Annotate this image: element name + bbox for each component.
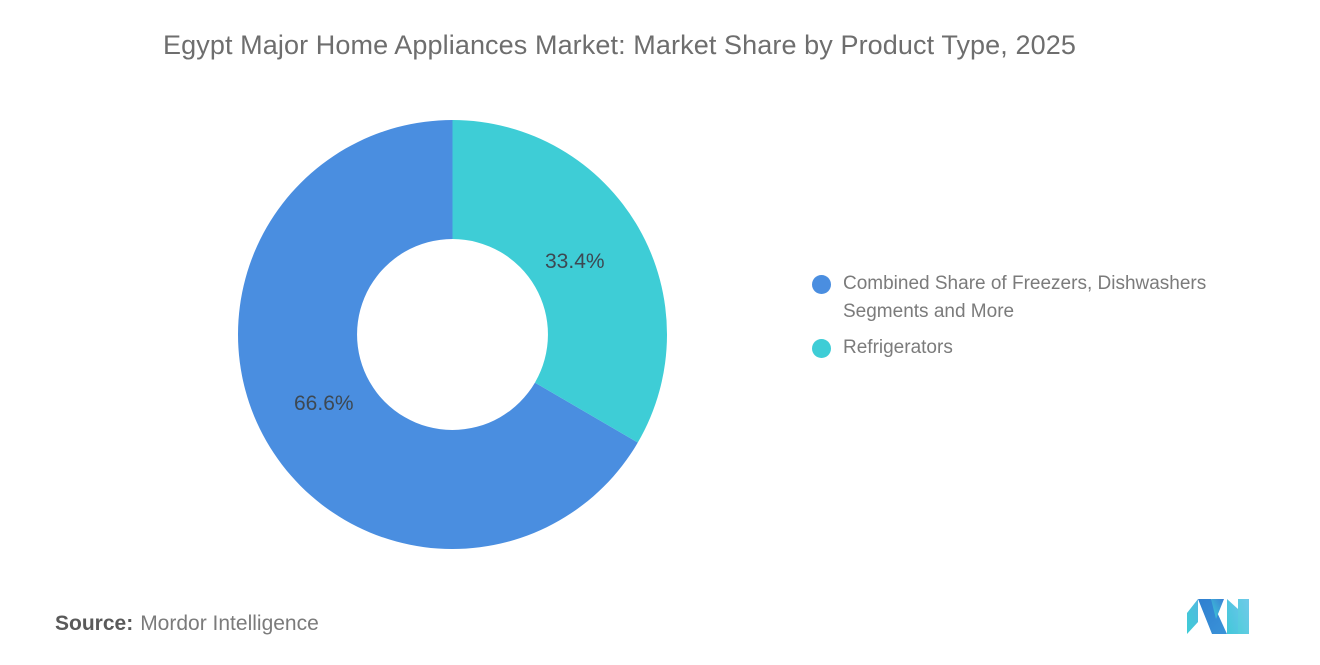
mordor-intelligence-logo-icon (1186, 597, 1252, 635)
logo-svg (1186, 597, 1252, 635)
legend-item-combined-share[interactable]: Combined Share of Freezers, Dishwashers … (812, 270, 1282, 326)
legend-swatch-icon-refrigerators (812, 339, 831, 358)
legend-swatch-icon-combined-share (812, 275, 831, 294)
chart-legend: Combined Share of Freezers, Dishwashers … (812, 270, 1282, 370)
legend-item-refrigerators[interactable]: Refrigerators (812, 334, 1282, 362)
source-label: Source: (55, 612, 133, 635)
source-line: Source:Mordor Intelligence (55, 612, 319, 636)
legend-label-combined-share: Combined Share of Freezers, Dishwashers … (843, 270, 1273, 326)
legend-label-refrigerators: Refrigerators (843, 334, 953, 362)
donut-chart (238, 120, 667, 549)
slice-value-label-combined-share: 66.6% (294, 392, 354, 416)
donut-slice[interactable] (453, 120, 668, 443)
slice-value-label-refrigerators: 33.4% (545, 250, 605, 274)
chart-page: Egypt Major Home Appliances Market: Mark… (0, 0, 1320, 665)
source-value: Mordor Intelligence (140, 612, 319, 635)
page-title: Egypt Major Home Appliances Market: Mark… (163, 30, 1263, 61)
donut-chart-svg (238, 120, 667, 549)
